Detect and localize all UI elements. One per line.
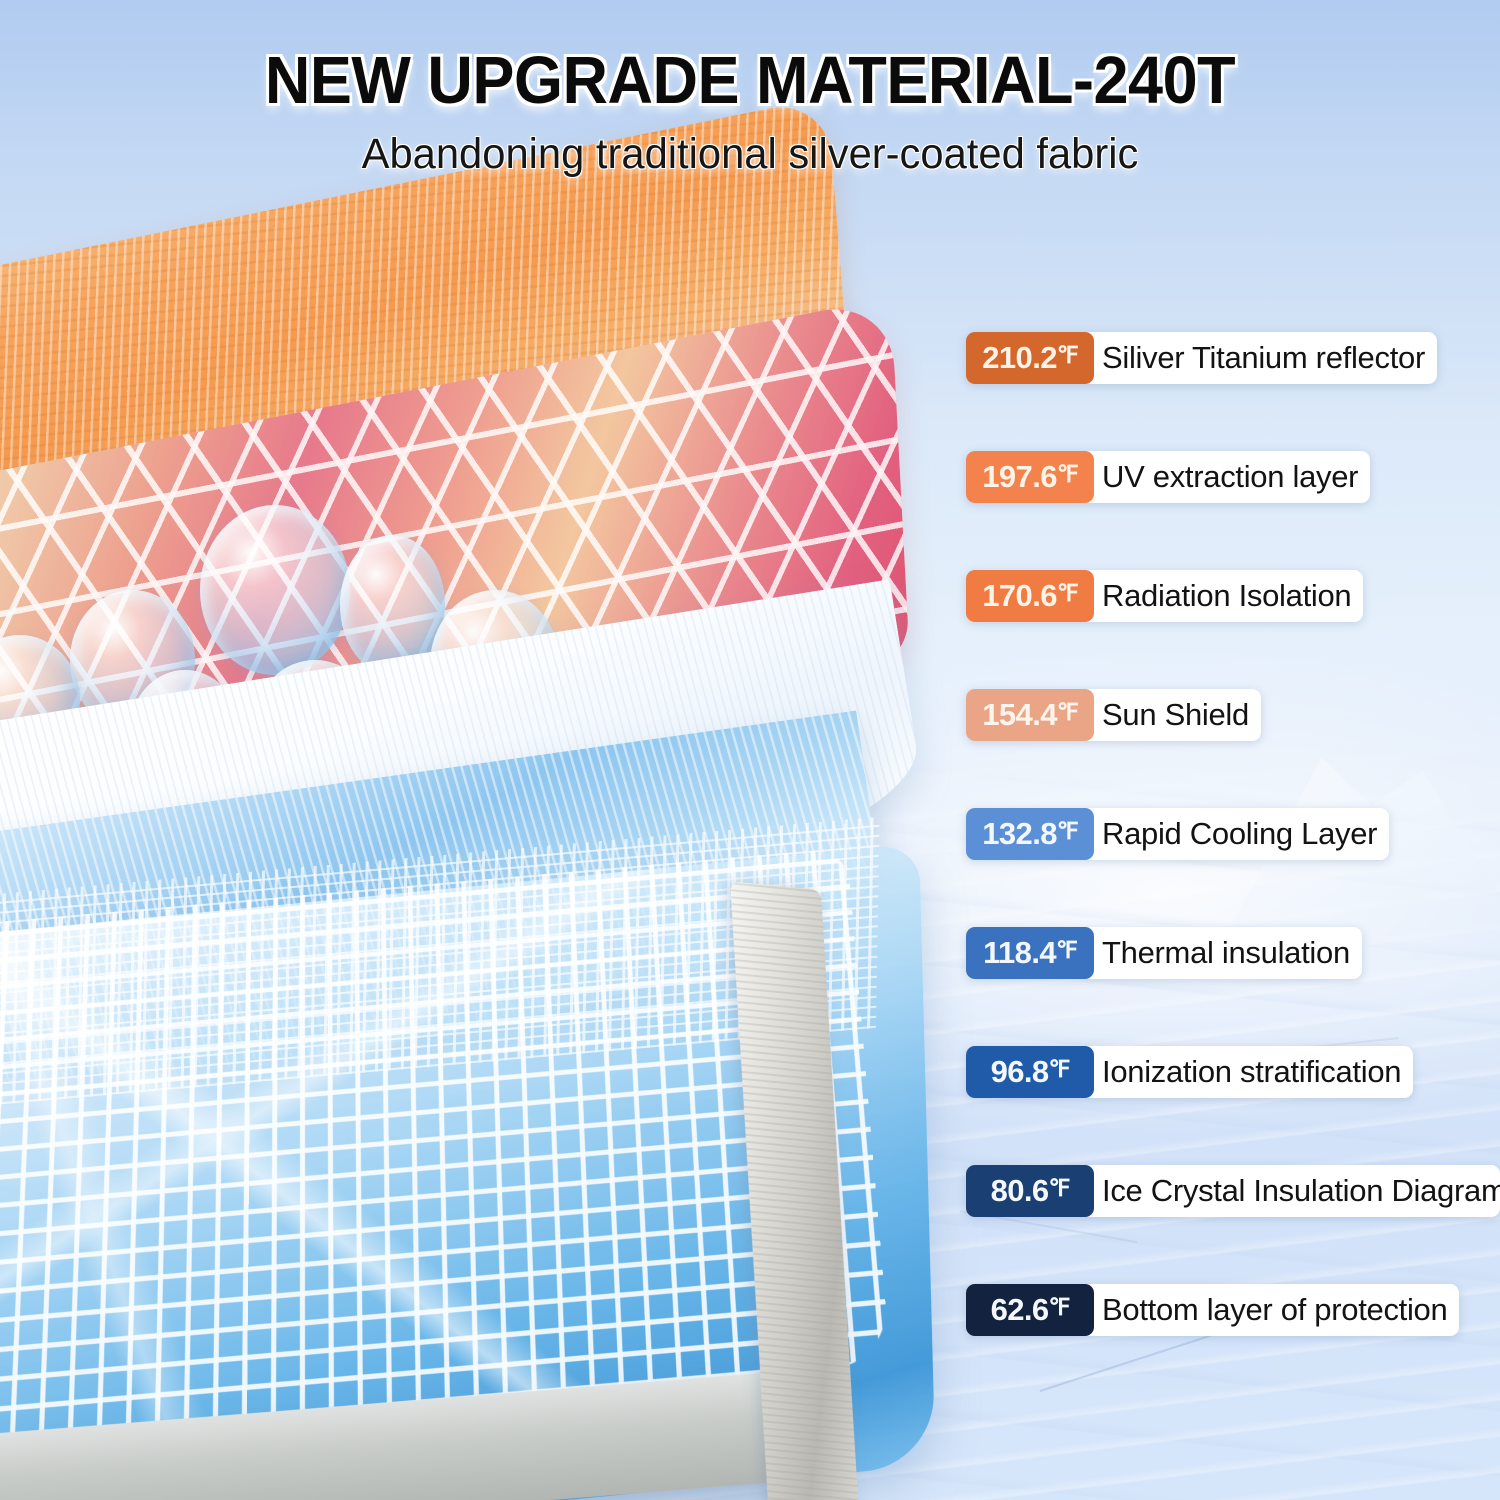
legend-row[interactable]: 118.4℉Thermal insulation [966,927,1362,979]
temperature-value: 170.6 [982,578,1057,614]
temperature-badge: 118.4℉ [966,927,1094,979]
legend-row[interactable]: 62.6℉Bottom layer of protection [966,1284,1459,1336]
temperature-value: 132.8 [982,816,1057,852]
legend-row[interactable]: 132.8℉Rapid Cooling Layer [966,808,1389,860]
temperature-badge: 197.6℉ [966,451,1094,503]
legend-row-label: Sun Shield [1094,689,1261,741]
degree-fahrenheit-unit: ℉ [1049,1294,1070,1321]
temperature-badge: 132.8℉ [966,808,1094,860]
legend-row-label: Radiation Isolation [1094,570,1363,622]
temperature-badge: 154.4℉ [966,689,1094,741]
degree-fahrenheit-unit: ℉ [1057,699,1078,726]
temperature-badge: 80.6℉ [966,1165,1094,1217]
temperature-value: 210.2 [982,340,1057,376]
temperature-badge: 170.6℉ [966,570,1094,622]
legend-row-label: UV extraction layer [1094,451,1370,503]
legend-row-label: Bottom layer of protection [1094,1284,1459,1336]
temperature-badge: 96.8℉ [966,1046,1094,1098]
degree-fahrenheit-unit: ℉ [1057,818,1078,845]
temperature-badge: 210.2℉ [966,332,1094,384]
temperature-value: 154.4 [982,697,1057,733]
bubble [200,505,350,675]
page-subtitle: Abandoning traditional silver-coated fab… [23,132,1478,177]
layer-temperature-legend: 210.2℉Siliver Titanium reflector197.6℉UV… [966,332,1500,1336]
temperature-value: 96.8 [991,1054,1049,1090]
temperature-value: 80.6 [991,1173,1049,1209]
degree-fahrenheit-unit: ℉ [1049,1056,1070,1083]
legend-row-label: Ice Crystal Insulation Diagram [1094,1165,1500,1217]
product-infographic: NEW UPGRADE MATERIAL-240T Abandoning tra… [0,0,1500,1500]
degree-fahrenheit-unit: ℉ [1056,937,1077,964]
legend-row[interactable]: 210.2℉Siliver Titanium reflector [966,332,1437,384]
legend-row-label: Thermal insulation [1094,927,1362,979]
legend-row[interactable]: 154.4℉Sun Shield [966,689,1261,741]
degree-fahrenheit-unit: ℉ [1057,580,1078,607]
page-title: NEW UPGRADE MATERIAL-240T [45,46,1455,116]
legend-row-label: Rapid Cooling Layer [1094,808,1389,860]
heading-block: NEW UPGRADE MATERIAL-240T Abandoning tra… [0,46,1500,177]
temperature-value: 197.6 [982,459,1057,495]
legend-row[interactable]: 197.6℉UV extraction layer [966,451,1370,503]
temperature-badge: 62.6℉ [966,1284,1094,1336]
degree-fahrenheit-unit: ℉ [1057,461,1078,488]
legend-row[interactable]: 96.8℉Ionization stratification [966,1046,1413,1098]
legend-row[interactable]: 80.6℉Ice Crystal Insulation Diagram [966,1165,1500,1217]
degree-fahrenheit-unit: ℉ [1049,1175,1070,1202]
legend-row[interactable]: 170.6℉Radiation Isolation [966,570,1363,622]
fabric-cross-section-illustration [0,195,1030,1485]
legend-row-label: Siliver Titanium reflector [1094,332,1437,384]
temperature-value: 62.6 [991,1292,1049,1328]
temperature-value: 118.4 [983,935,1056,971]
legend-row-label: Ionization stratification [1094,1046,1413,1098]
degree-fahrenheit-unit: ℉ [1057,342,1078,369]
